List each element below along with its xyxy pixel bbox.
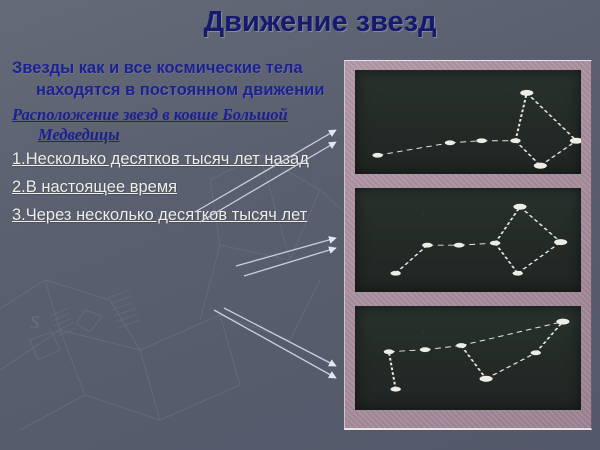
list-item: 3.Через несколько десятков тысяч лет	[12, 206, 332, 225]
star-panel-future	[355, 306, 581, 410]
star-dot	[454, 243, 464, 248]
background-watermark-icon: s	[0, 220, 320, 450]
star-panel-past	[355, 70, 581, 174]
list-item: 1.Несколько десятков тысяч лет назад	[12, 150, 332, 169]
star-dot	[422, 243, 432, 248]
star-dot	[476, 138, 486, 143]
constellation-link	[461, 322, 563, 346]
constellation-link	[515, 141, 540, 166]
list-item: 2.В настоящее время	[12, 178, 332, 197]
svg-text:s: s	[30, 305, 40, 334]
star-dot	[513, 271, 523, 276]
star-dot	[513, 204, 526, 210]
constellation-link	[486, 353, 536, 379]
constellation-link	[389, 352, 396, 389]
star-dot	[480, 376, 493, 382]
constellation-link	[378, 143, 450, 155]
constellation-svg-past	[355, 70, 581, 174]
constellation-link	[396, 245, 428, 273]
star-dot	[520, 90, 533, 96]
constellation-link	[425, 346, 461, 350]
star-dot	[510, 138, 520, 143]
star-dot	[570, 138, 581, 144]
page-title: Движение звезд	[0, 6, 600, 39]
star-dot	[531, 350, 541, 355]
intro-paragraph: Звезды как и все космические тела находя…	[12, 58, 332, 101]
star-dot	[456, 343, 466, 348]
subtitle-paragraph: Расположение звезд в ковше Большой Медве…	[12, 105, 332, 145]
star-dot	[384, 349, 394, 354]
text-column: Звезды как и все космические тела находя…	[12, 58, 332, 234]
constellation-svg-present	[355, 188, 581, 292]
star-dot	[390, 271, 400, 276]
star-dot	[445, 140, 455, 145]
constellation-link	[389, 350, 425, 352]
star-dot	[490, 241, 500, 246]
constellation-picture-frame	[344, 60, 592, 430]
star-dot	[372, 153, 382, 158]
constellation-link	[515, 93, 526, 141]
star-dot	[534, 163, 547, 169]
constellation-link	[520, 207, 561, 242]
constellation-link	[527, 93, 577, 141]
star-dot	[420, 347, 430, 352]
constellation-link	[536, 322, 563, 353]
star-dot	[390, 387, 400, 392]
constellation-link	[495, 243, 518, 273]
constellation-svg-future	[355, 306, 581, 410]
constellation-link	[518, 242, 561, 273]
star-panel-present	[355, 188, 581, 292]
constellation-link	[459, 243, 495, 245]
constellation-link	[495, 207, 520, 243]
arrow-to-panel-2-b	[244, 248, 336, 276]
star-dot	[556, 319, 569, 325]
arrow-to-panel-2-a	[236, 238, 336, 266]
star-dot	[554, 239, 567, 245]
slide-canvas: s Движение звезд Звезды как и все космич…	[0, 0, 600, 450]
arrow-to-panel-3-a	[224, 308, 336, 366]
constellation-link	[540, 141, 576, 166]
arrow-to-panel-3-b	[214, 310, 336, 378]
constellation-link	[461, 346, 486, 379]
